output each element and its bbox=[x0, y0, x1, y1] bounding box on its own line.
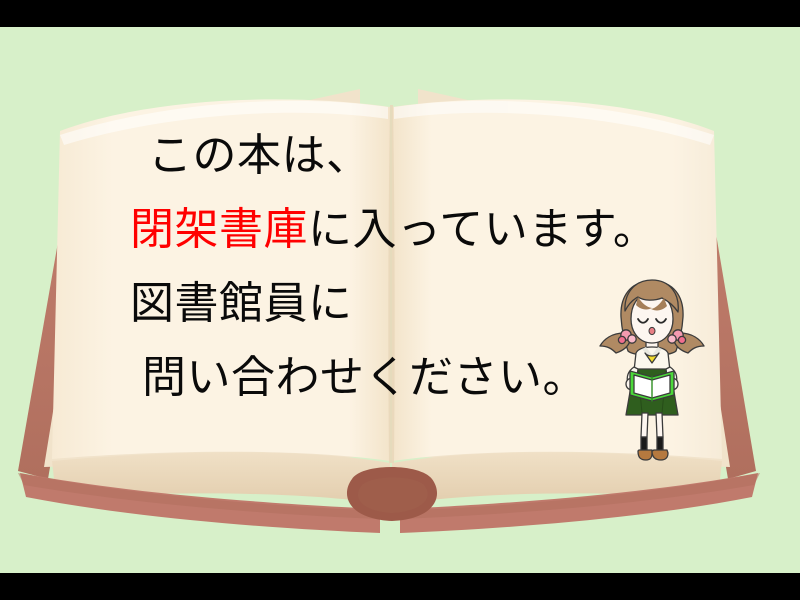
shoe-left bbox=[638, 450, 652, 460]
letterbox-bar-bottom bbox=[0, 573, 800, 600]
sock-left bbox=[641, 437, 647, 451]
book-center-crease bbox=[388, 105, 394, 463]
mint-background: この本は、 閉架書庫に入っています。 図書館員に 問い合わせください。 bbox=[0, 27, 800, 573]
illustration-stage: この本は、 閉架書庫に入っています。 図書館員に 問い合わせください。 bbox=[0, 0, 800, 600]
book-page-left bbox=[52, 99, 390, 461]
sock-right bbox=[657, 437, 663, 451]
librarian-girl-illustration bbox=[598, 267, 706, 467]
book-spine bbox=[347, 467, 437, 521]
leg-right bbox=[656, 413, 663, 437]
shoe-right bbox=[652, 450, 668, 460]
letterbox-bar-top bbox=[0, 0, 800, 27]
mouth bbox=[649, 327, 655, 334]
leg-left bbox=[641, 413, 648, 437]
